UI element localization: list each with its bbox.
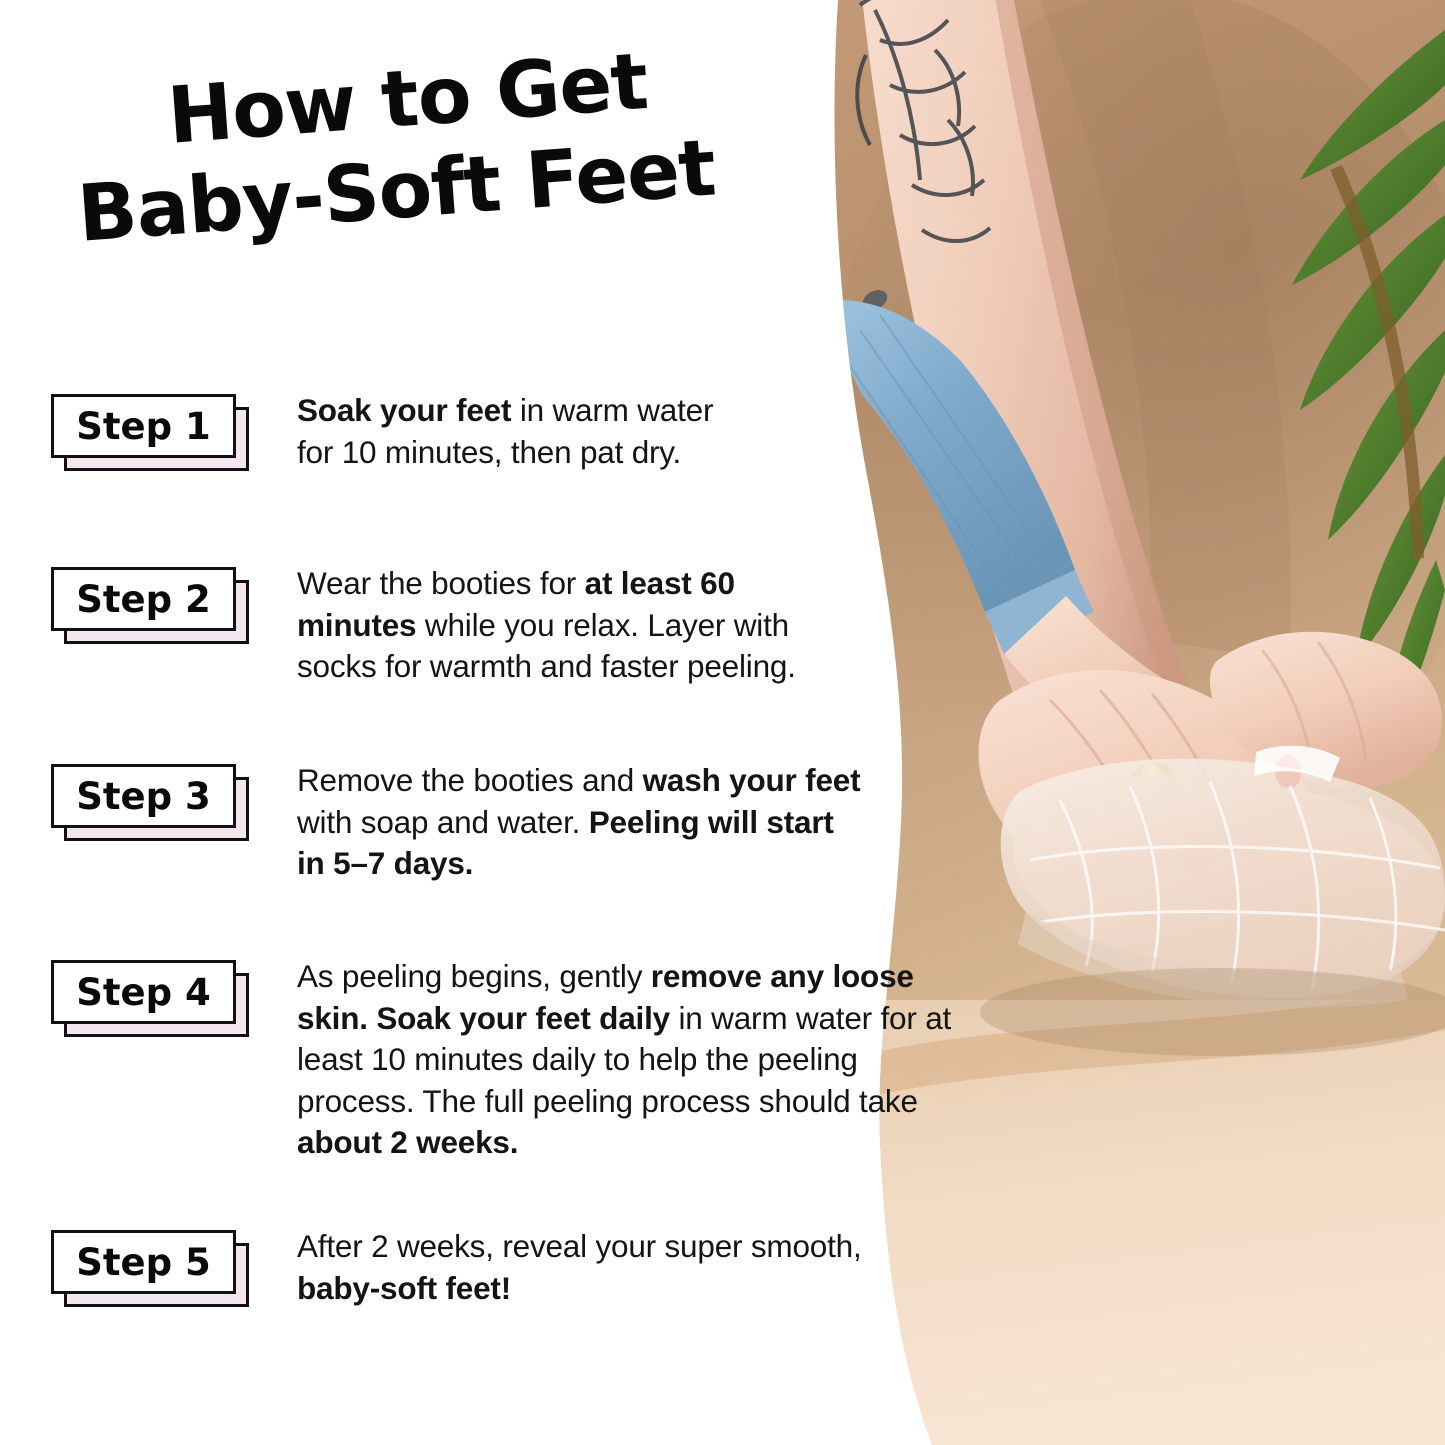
step-badge-label: Step 1 bbox=[76, 408, 211, 445]
step-text-plain: As peeling begins, gently bbox=[297, 958, 651, 994]
step-badge-box: Step 2 bbox=[51, 567, 236, 631]
step-text-plain: Remove the booties and bbox=[297, 762, 643, 798]
step-badge-label: Step 5 bbox=[76, 1244, 211, 1281]
foot-shadow bbox=[980, 968, 1445, 1056]
step-badge-box: Step 5 bbox=[51, 1230, 236, 1294]
step-badge-label: Step 3 bbox=[76, 778, 211, 815]
step-badge-box: Step 3 bbox=[51, 764, 236, 828]
step-description-4: As peeling begins, gently remove any loo… bbox=[297, 956, 965, 1164]
step-badge-4: Step 4 bbox=[51, 960, 256, 1044]
step-badge-3: Step 3 bbox=[51, 764, 256, 848]
step-badge-box: Step 4 bbox=[51, 960, 236, 1024]
step-badge-label: Step 2 bbox=[76, 581, 211, 618]
step-text-bold: wash your feet bbox=[643, 762, 861, 798]
step-text-plain: After 2 weeks, reveal your super smooth, bbox=[297, 1228, 862, 1264]
step-text-plain: with soap and water. bbox=[297, 804, 589, 840]
step-description-2: Wear the booties for at least 60 minutes… bbox=[297, 563, 842, 688]
step-text-plain: Wear the booties for bbox=[297, 565, 585, 601]
step-badge-2: Step 2 bbox=[51, 567, 256, 651]
step-text-bold: baby-soft feet! bbox=[297, 1270, 511, 1306]
step-badge-box: Step 1 bbox=[51, 394, 236, 458]
step-description-1: Soak your feet in warm water for 10 minu… bbox=[297, 390, 752, 473]
step-badge-1: Step 1 bbox=[51, 394, 256, 478]
step-description-3: Remove the booties and wash your feet wi… bbox=[297, 760, 867, 885]
step-text-bold: about 2 weeks. bbox=[297, 1124, 518, 1160]
step-description-5: After 2 weeks, reveal your super smooth,… bbox=[297, 1226, 937, 1309]
step-badge-label: Step 4 bbox=[76, 974, 211, 1011]
page-title: How to Get Baby-Soft Feet bbox=[72, 78, 792, 254]
step-badge-5: Step 5 bbox=[51, 1230, 256, 1314]
infographic-page: How to Get Baby-Soft Feet Step 1 Soak yo… bbox=[0, 0, 1445, 1445]
step-text-bold: Soak your feet bbox=[297, 392, 511, 428]
